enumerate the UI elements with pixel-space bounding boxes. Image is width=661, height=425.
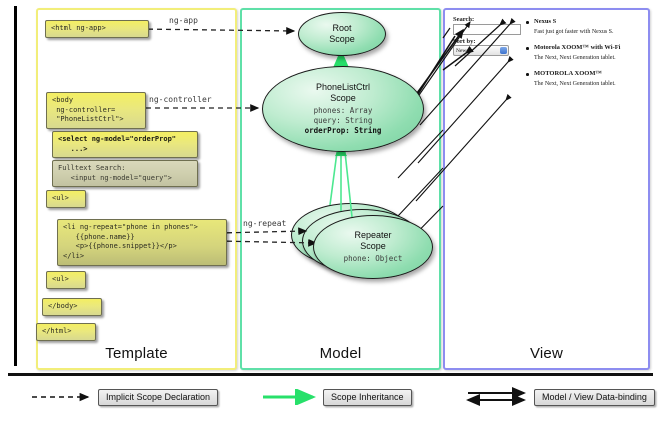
dashed-arrow-icon [30, 389, 98, 405]
ctrl-scope-properties: phones: Array query: String orderProp: S… [305, 106, 382, 135]
sort-select-value: Newest [456, 48, 473, 54]
sort-select[interactable]: Newest [453, 45, 509, 56]
template-panel-label: Template [38, 345, 235, 362]
view-app-mock: Search: Sort by: Newest Nexus S Fast jus… [453, 16, 641, 136]
phone-snippet: Fast just got faster with Nexus S. [525, 29, 643, 35]
code-body-tag: <body ng-controller= "PhoneListCtrl"> [46, 92, 146, 129]
root-scope-ellipse: Root Scope [298, 12, 386, 56]
list-item[interactable]: MOTOROLA XOOM™ The Next, Next Generation… [525, 70, 643, 87]
ctrl-prop-phones: phones: Array [305, 106, 382, 116]
double-arrow-icon [462, 387, 534, 407]
repeater-prop-phone: phone: Object [344, 254, 403, 264]
diagram-canvas: Template <html ng-app> <body ng-controll… [0, 0, 661, 425]
phone-name: MOTOROLA XOOM™ [525, 70, 643, 77]
phone-snippet: The Next, Next Generation tablet. [525, 55, 643, 61]
code-search-block: Fulltext Search: <input ng-model="query"… [52, 160, 198, 187]
code-ul-close: <ul> [46, 271, 86, 289]
model-panel: Model [240, 8, 441, 370]
view-panel: View Search: Sort by: Newest Nexus S Fas… [443, 8, 650, 370]
phonelistctrl-scope-ellipse: PhoneListCtrl Scope phones: Array query:… [262, 66, 424, 152]
ctrl-prop-query: query: String [305, 116, 382, 126]
code-html-tag: <html ng-app> [45, 20, 149, 38]
phone-name: Motorola XOOM™ with Wi-Fi [525, 44, 643, 51]
model-panel-label: Model [242, 345, 439, 362]
legend-label-databinding: Model / View Data-binding [534, 389, 655, 406]
repeater-scope-title: Repeater Scope [354, 230, 391, 251]
phone-snippet: The Next, Next Generation tablet. [525, 81, 643, 87]
green-arrow-icon [261, 389, 323, 405]
phone-name: Nexus S [525, 18, 643, 25]
search-input[interactable] [453, 24, 521, 35]
code-html-close: </html> [36, 323, 96, 341]
code-body-close: </body> [42, 298, 102, 316]
edge-label-ng-app: ng-app [169, 16, 198, 25]
legend-item-inheritance: Scope Inheritance [261, 387, 412, 407]
edge-label-ng-repeat: ng-repeat [243, 219, 286, 228]
phone-list: Nexus S Fast just got faster with Nexus … [525, 18, 643, 96]
legend: Implicit Scope Declaration Scope Inherit… [8, 383, 653, 417]
horizontal-divider [8, 373, 653, 376]
repeater-scope-properties: phone: Object [344, 254, 403, 264]
ctrl-prop-orderprop: orderProp: String [305, 126, 382, 136]
legend-item-databinding: Model / View Data-binding [462, 387, 655, 407]
legend-item-implicit: Implicit Scope Declaration [30, 387, 218, 407]
code-li-repeat: <li ng-repeat="phone in phones"> {{phone… [57, 219, 227, 266]
code-ul-open: <ul> [46, 190, 86, 208]
view-panel-label: View [445, 345, 648, 362]
template-panel: Template [36, 8, 237, 370]
root-scope-title: Root Scope [329, 23, 355, 44]
list-item[interactable]: Motorola XOOM™ with Wi-Fi The Next, Next… [525, 44, 643, 61]
left-spine [14, 6, 17, 366]
list-item[interactable]: Nexus S Fast just got faster with Nexus … [525, 18, 643, 35]
repeater-scope-ellipse: Repeater Scope phone: Object [313, 215, 433, 279]
code-select-tag: <select ng-model="orderProp" ...> [52, 131, 198, 158]
ctrl-scope-title: PhoneListCtrl Scope [316, 82, 370, 103]
edge-label-ng-controller: ng-controller [149, 95, 212, 104]
legend-label-inheritance: Scope Inheritance [323, 389, 412, 406]
chevron-down-icon [500, 47, 507, 54]
legend-label-implicit: Implicit Scope Declaration [98, 389, 218, 406]
